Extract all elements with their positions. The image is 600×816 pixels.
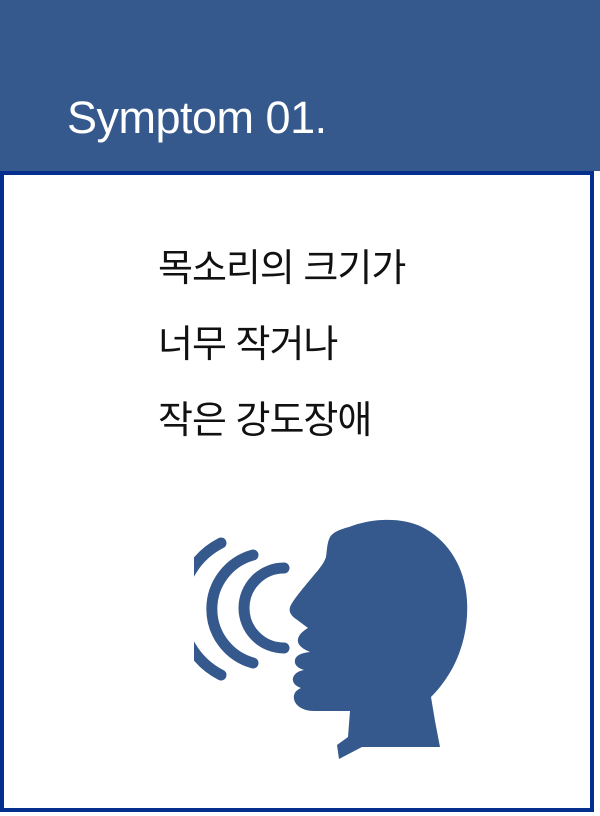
page-title: Symptom 01. — [67, 92, 327, 144]
head-silhouette — [290, 520, 468, 759]
speaking-head-icon — [194, 515, 474, 775]
description-line-2: 너무 작거나 — [158, 307, 558, 383]
sound-wave-arc-inner — [244, 568, 284, 648]
speaking-head-svg — [194, 515, 474, 775]
symptom-description: 목소리의 크기가 너무 작거나 작은 강도장애 — [158, 231, 558, 459]
description-line-3: 작은 강도장애 — [158, 383, 558, 459]
content-card: 목소리의 크기가 너무 작거나 작은 강도장애 — [0, 171, 594, 812]
description-line-1: 목소리의 크기가 — [158, 231, 558, 307]
sound-wave-group — [194, 543, 284, 675]
header-band: Symptom 01. — [0, 0, 600, 171]
